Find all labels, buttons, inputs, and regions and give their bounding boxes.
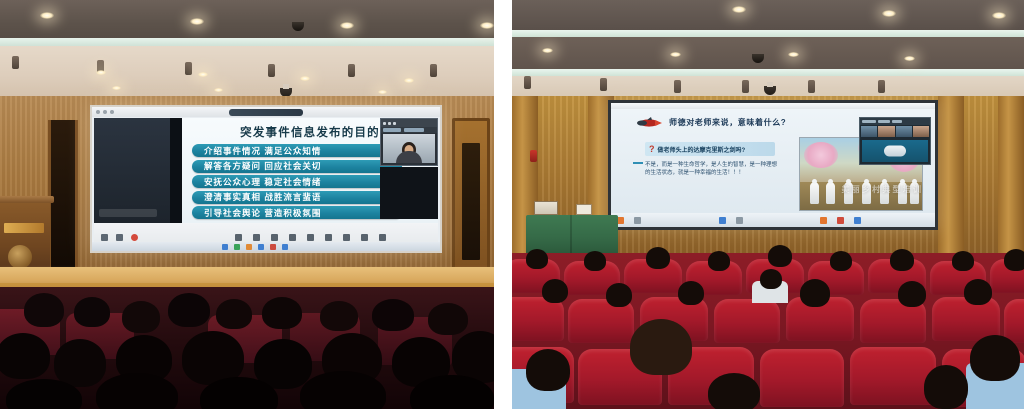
audience-head [24, 293, 64, 327]
slide-bullet: 引导社会舆论 营造积极氛围 [192, 206, 402, 219]
participant-thumbnail[interactable] [896, 126, 912, 137]
video-panel-label [892, 120, 902, 123]
app-icon[interactable] [282, 244, 288, 250]
meeting-title-pill [229, 109, 303, 116]
downlight-icon [542, 48, 553, 53]
participant-thumbnails[interactable] [860, 125, 930, 138]
spot-fixture-icon [742, 80, 749, 93]
presenter-video-feed [383, 134, 435, 163]
ceiling-mid [512, 37, 1024, 69]
slide-question-box: ? 做老师头上的达摩克里斯之剑吗? [645, 142, 775, 156]
wall-column [938, 96, 964, 261]
projection-screen: 突发事件信息发布的目的 介绍事件情况 满足公众知情 解答各方疑问 回应社会关切 … [90, 105, 442, 253]
ceiling-upper [0, 0, 494, 38]
video-panel-label [878, 120, 890, 123]
spot-fixture-icon [524, 76, 531, 89]
secondary-video-tile[interactable] [380, 167, 438, 219]
audience-head [800, 279, 830, 307]
screen-watermark: 美 丽 乡 村 典 型 培 训 [841, 184, 921, 195]
folder-icon[interactable] [246, 244, 252, 250]
participants-icon[interactable] [271, 234, 278, 241]
start-icon[interactable] [617, 217, 624, 224]
participant-thumbnail[interactable] [913, 126, 929, 137]
audience-head [216, 299, 252, 329]
audience-head [526, 249, 548, 269]
side-door-opening [48, 120, 78, 269]
slide-question-text: 做老师头上的达摩克里斯之剑吗? [658, 145, 746, 154]
downlight-icon [480, 22, 494, 29]
audience-head [372, 299, 414, 331]
podium-inscription [4, 223, 44, 233]
video-panel-label [862, 120, 876, 123]
explorer-icon[interactable] [719, 217, 726, 224]
apps-icon[interactable] [361, 234, 368, 241]
windows-taskbar[interactable] [92, 242, 440, 251]
chat-icon[interactable] [307, 234, 314, 241]
audience-head [830, 251, 852, 271]
downlight-icon [300, 76, 310, 81]
audience-head [262, 297, 302, 329]
start-icon[interactable] [222, 244, 228, 250]
ceiling-cove-band [512, 30, 1024, 37]
panel-divider [494, 0, 512, 409]
downlight-icon [992, 12, 1006, 19]
audience-head [768, 245, 792, 267]
side-video-pane [94, 118, 170, 223]
spot-fixture-icon [430, 64, 437, 77]
presenter-body [396, 151, 422, 163]
audience-head [924, 365, 968, 409]
ppe-worker [810, 182, 819, 204]
window-dot-icon [110, 110, 114, 114]
audience-head [168, 293, 210, 327]
ceiling-light-cove [0, 38, 494, 46]
seat [760, 349, 844, 407]
slide-bullet: 解答各方疑问 回应社会关切 [192, 160, 402, 173]
downlight-icon [904, 56, 915, 61]
participant-name [383, 128, 401, 132]
audience-head [584, 251, 606, 271]
conference-titlebar [92, 107, 440, 117]
table-nameplate [534, 201, 558, 215]
audience-seating-left [0, 287, 494, 409]
photo-collage: 突发事件信息发布的目的 介绍事件情况 满足公众知情 解答各方疑问 回应社会关切 … [0, 0, 1024, 409]
video-panel-titlebar [860, 118, 930, 125]
podium-emblem [8, 245, 32, 269]
spot-fixture-icon [12, 56, 19, 69]
audience-head [890, 249, 914, 271]
spot-fixture-icon [348, 64, 355, 77]
downlight-icon [404, 78, 414, 83]
audience-head [428, 303, 468, 335]
bullet-dash-icon [633, 162, 643, 164]
audience-head [678, 281, 704, 305]
downlight-icon [198, 72, 208, 77]
slide-answer-text: 不是，而是一种生命哲学，是人生的智慧，是一种理想的生活状态，就是一种幸福的生活！… [645, 161, 777, 177]
spot-fixture-icon [185, 62, 192, 75]
wall-column [998, 96, 1024, 261]
slide-bullet-list: 介绍事件情况 满足公众知情 解答各方疑问 回应社会关切 安抚公众心理 稳定社会情… [192, 144, 402, 219]
spot-fixture-icon [600, 78, 607, 91]
browser-icon[interactable] [258, 244, 264, 250]
audience-head [708, 373, 760, 409]
mail-icon[interactable] [270, 244, 276, 250]
spot-fixture-icon [674, 80, 681, 93]
downlight-icon [96, 70, 106, 75]
audience-head [96, 373, 178, 409]
participant-video-panel[interactable] [859, 117, 931, 165]
mute-icon[interactable] [101, 234, 108, 241]
close-icon[interactable] [393, 122, 396, 125]
leave-icon[interactable] [131, 234, 138, 241]
record-icon[interactable] [325, 234, 332, 241]
side-video-label [99, 209, 157, 217]
microphone-icon[interactable] [235, 234, 242, 241]
audience-head [708, 251, 730, 271]
table-document [576, 204, 592, 215]
slide-bullet: 安抚公众心理 稳定社会情绪 [192, 175, 402, 188]
spot-fixture-icon [808, 80, 815, 93]
audience-head [542, 279, 568, 303]
side-video-pane-secondary [170, 118, 182, 223]
participant-thumbnail[interactable] [861, 126, 877, 137]
slide-canvas: 师德对老师来说，意味着什么? ? 做老师头上的达摩克里斯之剑吗? 不是，而是一种… [611, 109, 935, 213]
seat [512, 297, 564, 341]
avatar [884, 146, 906, 157]
search-icon[interactable] [234, 244, 240, 250]
fire-extinguisher-icon [530, 150, 537, 162]
seat [1004, 299, 1024, 343]
downlight-icon [732, 6, 746, 13]
audience-head [898, 281, 926, 307]
screen-content: 突发事件信息发布的目的 介绍事件情况 满足公众知情 解答各方疑问 回应社会关切 … [92, 107, 440, 251]
downlight-icon [340, 22, 354, 29]
ceiling-upper [512, 0, 1024, 30]
audience-head [122, 301, 160, 333]
reactions-icon[interactable] [343, 234, 350, 241]
downlight-icon [112, 86, 121, 90]
left-photo-panel: 突发事件信息发布的目的 介绍事件情况 满足公众知情 解答各方疑问 回应社会关切 … [0, 0, 494, 409]
audience-head [54, 339, 106, 387]
audience-head [952, 251, 974, 271]
spot-fixture-icon [268, 64, 275, 77]
ceiling-lower [0, 46, 494, 102]
search-icon[interactable] [634, 217, 641, 224]
led-display-screen: 师德对老师来说，意味着什么? ? 做老师头上的达摩克里斯之剑吗? 不是，而是一种… [608, 100, 938, 230]
downlight-icon [788, 52, 799, 57]
media-icon[interactable] [820, 217, 827, 224]
ceiling-cove-band [512, 69, 1024, 76]
maximize-icon[interactable] [388, 122, 391, 125]
app-icon[interactable] [854, 217, 861, 224]
active-speaker-video [862, 140, 928, 162]
browser-icon[interactable] [736, 217, 743, 224]
slide-bullet: 介绍事件情况 满足公众知情 [192, 144, 402, 157]
right-photo-panel: 师德对老师来说，意味着什么? ? 做老师头上的达摩克里斯之剑吗? 不是，而是一种… [512, 0, 1024, 409]
slide-title: 师德对老师来说，意味着什么? [669, 117, 845, 128]
audience-head [606, 283, 632, 307]
share-screen-icon[interactable] [289, 234, 296, 241]
window-dot-icon [96, 110, 100, 114]
cherry-blossom [804, 142, 838, 168]
audience-head [646, 247, 670, 269]
audience-seating-right [512, 253, 1024, 409]
video-camera-icon[interactable] [253, 234, 260, 241]
audience-head [760, 269, 782, 289]
downlight-icon [378, 90, 387, 94]
window-dot-icon [103, 110, 107, 114]
downlight-icon [882, 10, 896, 17]
question-mark-icon: ? [649, 144, 655, 154]
audience-head [964, 279, 992, 305]
downlight-icon [214, 88, 223, 92]
audience-head [0, 333, 50, 379]
video-tile-namebar [381, 127, 437, 133]
downlight-icon [40, 12, 54, 19]
rocket-icon [633, 116, 663, 130]
downlight-icon [670, 52, 681, 57]
audience-head [1004, 249, 1024, 271]
audience-head [74, 297, 110, 327]
audience-head [320, 301, 358, 331]
seat [850, 347, 936, 405]
minimize-icon[interactable] [383, 122, 386, 125]
presenter-video-tile[interactable] [380, 118, 438, 166]
seat [714, 299, 780, 343]
downlight-icon [190, 18, 204, 25]
stop-video-icon[interactable] [116, 234, 123, 241]
mail-icon[interactable] [837, 217, 844, 224]
participant-thumbnail[interactable] [878, 126, 894, 137]
more-icon[interactable] [379, 234, 386, 241]
podium-top [0, 196, 54, 203]
ppe-worker [826, 182, 835, 204]
participant-name [404, 128, 424, 132]
slide-bullet: 澄清事实真相 战胜流言蜚语 [192, 191, 402, 204]
audience-head [970, 335, 1020, 381]
audience-head [630, 319, 692, 375]
audience-head [526, 349, 570, 391]
spot-fixture-icon [878, 80, 885, 93]
video-tile-controls [381, 119, 437, 127]
windows-taskbar[interactable] [611, 213, 935, 227]
side-door [452, 118, 490, 273]
